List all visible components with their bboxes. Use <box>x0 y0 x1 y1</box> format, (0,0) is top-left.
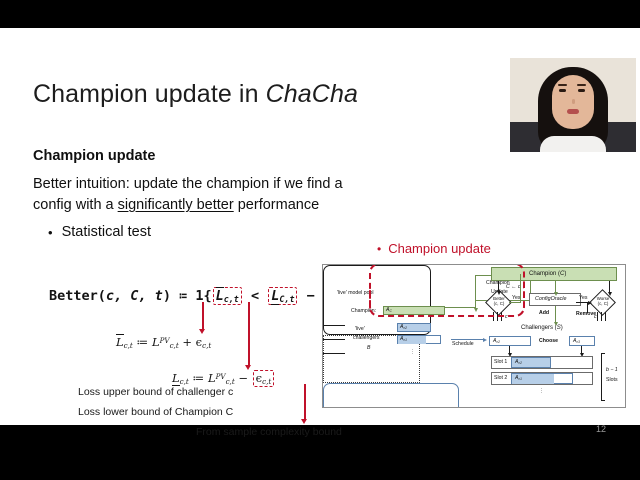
bullet-statistical-test: • Statistical test <box>48 224 151 240</box>
schedule-label: Schedule <box>452 342 474 347</box>
webcam-video-overlay[interactable] <box>510 58 636 152</box>
input-line-2 <box>323 339 345 340</box>
slots-count-label: b − 1 <box>606 368 618 373</box>
eq-main-term1: L <box>216 287 224 304</box>
eq-main-upper-bound-term: Lc,t <box>213 287 242 305</box>
eq-main-lhs: Better( <box>49 288 106 304</box>
worse-up-line-1 <box>597 312 598 321</box>
eq-lower-lhs: L <box>172 371 180 386</box>
eq-lower-rhs-sub: c,t <box>226 377 235 386</box>
section-heading: Champion update <box>33 148 155 164</box>
slot-2-config-label: Ac1 <box>515 376 522 381</box>
config-oracle-label: ConfigOracle <box>535 297 566 302</box>
worse-up-line-2 <box>601 312 602 321</box>
diagram-header-dot-icon: • <box>377 243 381 255</box>
challengers-title: Challengers (S) <box>521 325 563 331</box>
webcam-speaker-brow-right <box>577 84 586 86</box>
slot-1-label: Slot 1 <box>494 360 507 365</box>
eq-upper-rhs: L <box>152 335 160 349</box>
live-challengers-label-1: 'live' <box>355 327 365 332</box>
annotation-arrow-upper <box>202 302 204 330</box>
live-challengers-label-3: B <box>367 346 370 351</box>
eq-upper-eps-sub: c,t <box>202 341 211 350</box>
title-text: Champion update in <box>33 80 266 108</box>
live-challengers-label-2: challengers <box>353 336 380 341</box>
eq-upper-rhs-sup: PV <box>160 336 170 345</box>
webcam-speaker-nose <box>572 99 575 104</box>
eq-lower-minus: − <box>235 371 252 385</box>
webcam-speaker-brow-left <box>558 84 567 86</box>
intro-underlined: significantly better <box>118 197 234 213</box>
slots-brace-v <box>601 353 602 400</box>
annotation-arrow-lower <box>248 302 250 366</box>
eq-main-def: ) ≔ 1{ <box>163 288 212 304</box>
challenger-config-c3-label: Ac3 <box>573 339 580 344</box>
slots-brace-top <box>601 353 605 354</box>
schedule-arrow <box>451 339 483 340</box>
eq-upper-lhs-sub: c,t <box>124 341 133 350</box>
webcam-speaker-shirt <box>540 136 606 152</box>
screen: Champion update in ChaCha Champion updat… <box>0 0 640 480</box>
slots-word-label: Slots <box>606 378 618 383</box>
eq-lower-rhs: L <box>208 371 216 385</box>
eq-lower-rhs-sup: PV <box>216 372 226 381</box>
input-line-1 <box>323 325 345 326</box>
eq-lower-lhs-sub: c,t <box>180 377 189 386</box>
eq-upper-lhs: L <box>116 334 124 349</box>
caption-sample-complexity: From sample complexity bound <box>196 426 342 438</box>
slot-1-config-label: Ac2 <box>515 360 522 365</box>
live-challengers-vdots: ⋮ <box>410 350 415 355</box>
oracle-to-challengers-arrow <box>555 306 556 322</box>
slot-2-label: Slot 2 <box>494 376 507 381</box>
bullet-label: Statistical test <box>62 224 151 240</box>
intro-part2: performance <box>234 197 319 213</box>
live-challenger-config-c1-label: Ac1 <box>400 337 407 342</box>
webcam-speaker-eye-right <box>578 89 585 92</box>
eq-main-term1-sub: c,t <box>224 294 239 304</box>
worse-yes-label: Yes <box>579 296 587 301</box>
diagram-header-label: Champion update <box>388 241 491 256</box>
eq-main-lower-bound-term: LC,t <box>268 287 297 305</box>
diagram-header: • Champion update <box>377 241 491 256</box>
eq-lower-eps-sub: c,t <box>262 377 271 386</box>
champion-node-label: Champion (C) <box>529 271 566 277</box>
challengers-box <box>323 383 459 408</box>
champion-update-loop-bottom <box>369 285 525 317</box>
webcam-speaker-eye-left <box>559 89 566 92</box>
add-label: Add <box>539 311 549 316</box>
eq-main-args: c, C, t <box>106 288 163 304</box>
eq-lower-epsilon-term: ϵc,t <box>253 370 275 387</box>
chacha-architecture-diagram: 'live' model pool Champion: AC 'live' ch… <box>322 264 626 408</box>
bullet-dot-icon: • <box>48 226 53 239</box>
remove-line-h <box>576 302 588 303</box>
choose-label: Choose <box>539 339 558 344</box>
eq-main-term2-sub: C,t <box>279 294 294 304</box>
input-line-3 <box>323 353 345 354</box>
champion-to-worse-arrow <box>609 281 610 292</box>
page-number: 12 <box>596 424 606 434</box>
eq-upper-plus: + <box>179 335 196 349</box>
title-italic: ChaCha <box>266 80 358 108</box>
slots-vdots: ⋮ <box>539 389 544 394</box>
config-c2-to-slot-arrow <box>509 346 510 353</box>
config-c3-to-slot-arrow <box>581 346 582 353</box>
page-title: Champion update in ChaCha <box>33 80 358 109</box>
eq-upper-rhs-sub: c,t <box>170 341 179 350</box>
slots-brace-bottom <box>601 400 605 401</box>
webcam-speaker-mouth <box>567 109 579 114</box>
intro-paragraph: Better intuition: update the champion if… <box>33 174 363 216</box>
caption-upper-bound: Loss upper bound of challenger c <box>78 386 233 398</box>
worse-up-line-3 <box>605 312 606 321</box>
champion-to-oracle-arrow <box>555 281 556 292</box>
challenger-config-c2-label: Ac2 <box>493 339 500 344</box>
equation-upper-bound: Lc,t ≔ LPVc,t + ϵc,t <box>116 335 211 350</box>
letterbox-top <box>0 0 640 28</box>
annotation-arrow-epsilon <box>304 384 306 420</box>
eq-upper-def: ≔ <box>133 335 152 349</box>
equation-lower-bound: Lc,t ≔ LPVc,t − ϵc,t <box>172 370 274 387</box>
eq-lower-def: ≔ <box>189 371 208 385</box>
live-challenger-config-c2-label: Ac2 <box>400 325 407 330</box>
eq-main-rel: < <box>243 288 267 304</box>
caption-lower-bound: Loss lower bound of Champion C <box>78 406 233 418</box>
eq-main-minus: − <box>298 288 322 304</box>
